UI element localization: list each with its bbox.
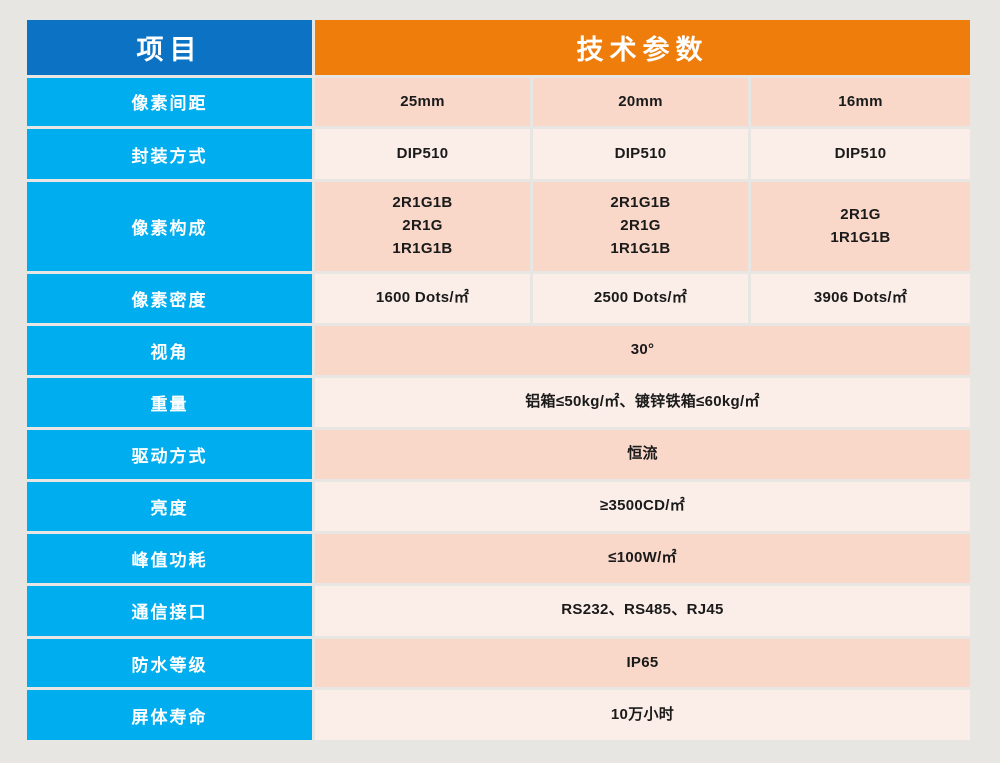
value-cell: ≥3500CD/㎡ <box>315 482 970 532</box>
value-cell: 2R1G1B 2R1G 1R1G1B <box>315 182 530 271</box>
row-values: ≤100W/㎡ <box>315 534 970 583</box>
row-label-brightness: 亮度 <box>27 482 312 532</box>
value-cell: 2500 Dots/㎡ <box>533 274 748 323</box>
value-cell: 2R1G1B 2R1G 1R1G1B <box>533 182 748 271</box>
value-cell: 恒流 <box>315 430 970 479</box>
value-cell: DIP510 <box>315 129 530 179</box>
row-values: 2R1G1B 2R1G 1R1G1B 2R1G1B 2R1G 1R1G1B 2R… <box>315 182 970 271</box>
row-label-drive-mode: 驱动方式 <box>27 430 312 479</box>
value-cell: ≤100W/㎡ <box>315 534 970 583</box>
row-label-viewing-angle: 视角 <box>27 326 312 375</box>
value-cell: 10万小时 <box>315 690 970 740</box>
value-cell: 20mm <box>533 78 748 127</box>
row-values: DIP510 DIP510 DIP510 <box>315 129 970 179</box>
table-row: 重量 铝箱≤50kg/㎡、镀锌铁箱≤60kg/㎡ <box>27 378 970 428</box>
row-label-waterproof-rating: 防水等级 <box>27 639 312 688</box>
row-label-communication-interface: 通信接口 <box>27 586 312 636</box>
table-row: 封装方式 DIP510 DIP510 DIP510 <box>27 129 970 179</box>
row-label-pixel-density: 像素密度 <box>27 274 312 323</box>
value-cell: DIP510 <box>533 129 748 179</box>
row-values: 10万小时 <box>315 690 970 740</box>
table-header-row: 项目 技术参数 <box>27 20 970 75</box>
table-row: 通信接口 RS232、RS485、RJ45 <box>27 586 970 636</box>
row-values: 30° <box>315 326 970 375</box>
value-cell: 铝箱≤50kg/㎡、镀锌铁箱≤60kg/㎡ <box>315 378 970 428</box>
table-row: 驱动方式 恒流 <box>27 430 970 479</box>
value-cell: IP65 <box>315 639 970 688</box>
table-row: 防水等级 IP65 <box>27 639 970 688</box>
value-cell: 16mm <box>751 78 970 127</box>
row-values: 1600 Dots/㎡ 2500 Dots/㎡ 3906 Dots/㎡ <box>315 274 970 323</box>
header-item-label: 项目 <box>27 20 312 75</box>
row-label-screen-lifespan: 屏体寿命 <box>27 690 312 740</box>
row-label-peak-power: 峰值功耗 <box>27 534 312 583</box>
row-label-package-type: 封装方式 <box>27 129 312 179</box>
table-row: 峰值功耗 ≤100W/㎡ <box>27 534 970 583</box>
row-label-pixel-pitch: 像素间距 <box>27 78 312 127</box>
table-row: 像素密度 1600 Dots/㎡ 2500 Dots/㎡ 3906 Dots/㎡ <box>27 274 970 323</box>
value-cell: RS232、RS485、RJ45 <box>315 586 970 636</box>
table-row: 像素构成 2R1G1B 2R1G 1R1G1B 2R1G1B 2R1G 1R1G… <box>27 182 970 271</box>
row-values: ≥3500CD/㎡ <box>315 482 970 532</box>
value-cell: 2R1G 1R1G1B <box>751 182 970 271</box>
value-cell: 30° <box>315 326 970 375</box>
row-values: 25mm 20mm 16mm <box>315 78 970 127</box>
specification-table: 项目 技术参数 像素间距 25mm 20mm 16mm 封装方式 DIP510 … <box>27 20 970 740</box>
row-label-weight: 重量 <box>27 378 312 428</box>
row-values: IP65 <box>315 639 970 688</box>
header-spec-label: 技术参数 <box>315 20 970 75</box>
table-row: 屏体寿命 10万小时 <box>27 690 970 740</box>
table-row: 像素间距 25mm 20mm 16mm <box>27 78 970 127</box>
row-values: RS232、RS485、RJ45 <box>315 586 970 636</box>
value-cell: 25mm <box>315 78 530 127</box>
table-row: 亮度 ≥3500CD/㎡ <box>27 482 970 532</box>
row-label-pixel-composition: 像素构成 <box>27 182 312 271</box>
value-cell: 3906 Dots/㎡ <box>751 274 970 323</box>
row-values: 铝箱≤50kg/㎡、镀锌铁箱≤60kg/㎡ <box>315 378 970 428</box>
row-values: 恒流 <box>315 430 970 479</box>
table-row: 视角 30° <box>27 326 970 375</box>
value-cell: DIP510 <box>751 129 970 179</box>
value-cell: 1600 Dots/㎡ <box>315 274 530 323</box>
